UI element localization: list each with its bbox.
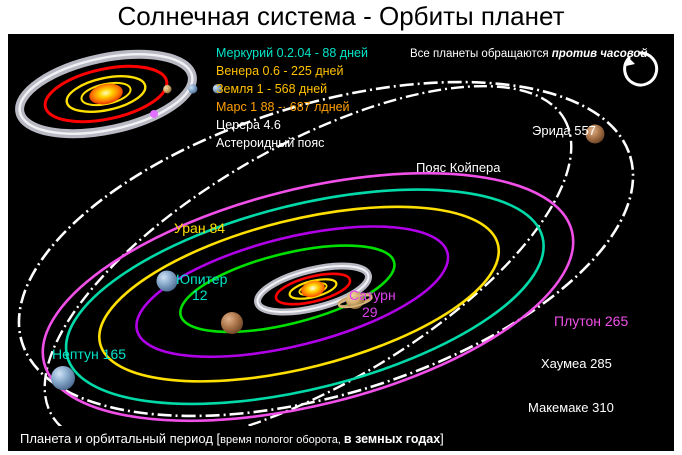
rotation-note-prefix: Все планеты обращаются: [410, 48, 552, 60]
legend-item-mars: Марс 1 88 -· 687 лдней: [216, 100, 350, 114]
label-haumea: Хаумеа 285: [541, 357, 612, 372]
label-saturn: Сатурн: [349, 287, 396, 303]
figure-caption: Планета и орбитальный период [время поло…: [8, 426, 674, 451]
legend-item-mercury: Меркурий 0.2.04 - 88 дней: [216, 46, 368, 60]
legend-item-ceres: Церера 4.6: [216, 118, 281, 132]
label-kuiper-belt: Пояс Койпера: [416, 161, 501, 176]
label-pluto: Плутон 265: [554, 313, 628, 329]
label-saturn-period: 29: [362, 304, 378, 320]
neptune-planet: [51, 366, 75, 390]
pluto-planet: [150, 110, 158, 118]
solar-system-infographic: Солнечная система - Орбиты планет: [0, 0, 682, 455]
legend-item-asteroid-belt: Астероидный пояс: [216, 136, 324, 150]
label-neptune: Нептун 165: [52, 346, 126, 362]
label-makemake: Макемаке 310: [528, 401, 614, 416]
caption-bold: в земных годах: [344, 432, 440, 446]
diagram-stage: Меркурий 0.2.04 - 88 дней Венера 0.6 - 2…: [8, 34, 674, 447]
inner-system-inset: [12, 35, 225, 148]
sun: [299, 278, 326, 299]
uranus-planet: [157, 271, 178, 292]
legend-item-earth: Земля 1 - 568 дней: [216, 82, 327, 96]
orbit-diagram-svg: [8, 34, 674, 447]
jupiter-planet: [221, 312, 243, 334]
rotation-direction-note: Все планеты обращаются против часовой: [410, 48, 647, 61]
caption-sub: время пологог оборота,: [220, 434, 344, 446]
label-uranus: Уран 84: [174, 220, 225, 236]
label-eris: Эрида 557: [532, 124, 596, 139]
label-jupiter-period: 12: [192, 287, 208, 303]
page-title: Солнечная система - Орбиты планет: [0, 0, 682, 33]
label-jupiter: Юпитер: [176, 271, 227, 287]
caption-end: ]: [440, 431, 444, 446]
legend-item-venus: Венера 0.6 - 225 дней: [216, 64, 343, 78]
inset-sun: [87, 81, 124, 108]
rotation-note-emphasis: против часовой: [552, 48, 648, 60]
uranus-orbit: [82, 173, 516, 416]
caption-main: Планета и орбитальный период [: [20, 431, 220, 446]
